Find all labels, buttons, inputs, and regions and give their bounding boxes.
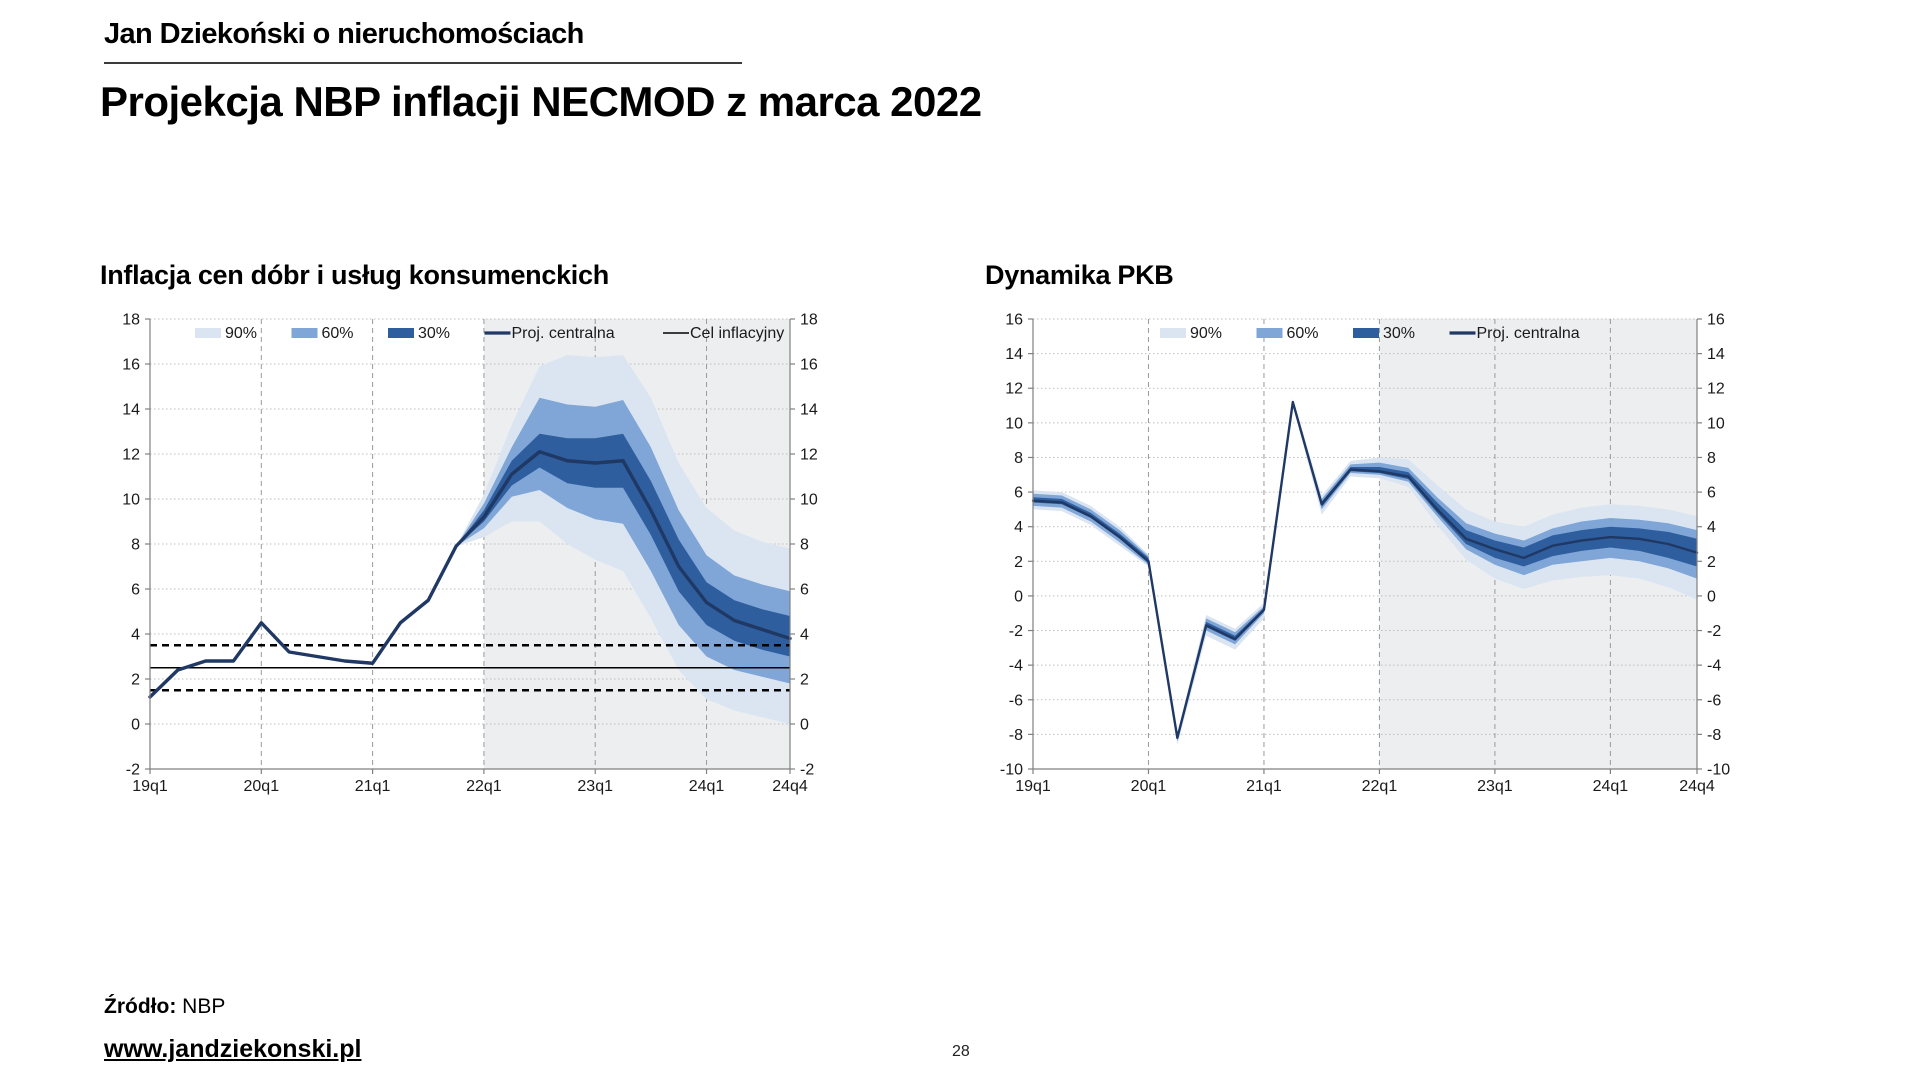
y-tick-label: 16 bbox=[1707, 312, 1725, 329]
y-tick-label: 14 bbox=[800, 402, 818, 419]
y-tick-label: 18 bbox=[122, 312, 140, 329]
legend-label: Proj. centralna bbox=[512, 325, 615, 342]
legend-swatch bbox=[195, 328, 221, 338]
brand-title: Jan Dziekoński o nieruchomościach bbox=[104, 18, 584, 51]
y-tick-label: -2 bbox=[1707, 623, 1721, 640]
y-tick-label: 6 bbox=[1707, 485, 1716, 502]
chart-legend: 90%60%30%Proj. centralna bbox=[1160, 325, 1580, 342]
y-tick-label: 14 bbox=[122, 402, 140, 419]
y-tick-label: 16 bbox=[1005, 312, 1023, 329]
y-tick-label: -10 bbox=[1707, 762, 1730, 779]
brand-divider bbox=[104, 62, 742, 64]
y-tick-label: -4 bbox=[1009, 658, 1023, 675]
y-tick-label: 8 bbox=[1707, 450, 1716, 467]
y-tick-label: 14 bbox=[1005, 346, 1023, 363]
x-tick-label: 23q1 bbox=[1477, 778, 1513, 795]
y-tick-label: -10 bbox=[1000, 762, 1023, 779]
y-tick-label: 12 bbox=[800, 447, 818, 464]
website-link[interactable]: www.jandziekonski.pl bbox=[104, 1035, 361, 1064]
y-tick-label: 0 bbox=[1707, 588, 1716, 605]
x-tick-label: 22q1 bbox=[466, 778, 502, 795]
y-tick-label: 4 bbox=[1707, 519, 1716, 536]
inflation-fan-chart: -2-200224466881010121214141616181819q120… bbox=[100, 309, 840, 809]
y-tick-label: 6 bbox=[1014, 485, 1023, 502]
y-tick-label: 4 bbox=[1014, 519, 1023, 536]
x-tick-label: 24q4 bbox=[772, 778, 808, 795]
y-tick-label: 10 bbox=[800, 492, 818, 509]
source-line: Źródło: NBP bbox=[104, 995, 225, 1019]
legend-label: 90% bbox=[225, 325, 257, 342]
legend-swatch bbox=[1353, 328, 1379, 338]
chart-gdp-heading: Dynamika PKB bbox=[985, 260, 1865, 291]
y-tick-label: 10 bbox=[122, 492, 140, 509]
y-tick-label: 4 bbox=[131, 627, 140, 644]
y-tick-label: 18 bbox=[800, 312, 818, 329]
y-tick-label: 8 bbox=[800, 537, 809, 554]
legend-swatch bbox=[388, 328, 414, 338]
y-tick-label: 10 bbox=[1005, 415, 1023, 432]
y-tick-label: 12 bbox=[1005, 381, 1023, 398]
x-tick-label: 21q1 bbox=[355, 778, 391, 795]
y-tick-label: 14 bbox=[1707, 346, 1725, 363]
y-tick-label: 2 bbox=[1707, 554, 1716, 571]
y-tick-label: 0 bbox=[131, 717, 140, 734]
x-tick-label: 20q1 bbox=[1131, 778, 1167, 795]
y-tick-label: 12 bbox=[122, 447, 140, 464]
x-tick-label: 19q1 bbox=[132, 778, 168, 795]
y-tick-label: -2 bbox=[800, 762, 814, 779]
y-tick-label: 8 bbox=[131, 537, 140, 554]
legend-swatch bbox=[1160, 328, 1186, 338]
y-tick-label: -8 bbox=[1009, 727, 1023, 744]
y-tick-label: 2 bbox=[131, 672, 140, 689]
x-tick-label: 20q1 bbox=[244, 778, 280, 795]
y-tick-label: -4 bbox=[1707, 658, 1721, 675]
legend-swatch bbox=[292, 328, 318, 338]
chart-inflation: Inflacja cen dóbr i usług konsumenckich … bbox=[100, 260, 960, 809]
source-label: Źródło: bbox=[104, 995, 176, 1018]
y-tick-label: 16 bbox=[800, 357, 818, 374]
chart-inflation-heading: Inflacja cen dóbr i usług konsumenckich bbox=[100, 260, 960, 291]
page-number: 28 bbox=[952, 1043, 970, 1061]
y-tick-label: 2 bbox=[1014, 554, 1023, 571]
x-tick-label: 23q1 bbox=[577, 778, 613, 795]
y-tick-label: -2 bbox=[126, 762, 140, 779]
legend-swatch bbox=[1257, 328, 1283, 338]
y-tick-label: 10 bbox=[1707, 415, 1725, 432]
y-tick-label: 2 bbox=[800, 672, 809, 689]
y-tick-label: 6 bbox=[131, 582, 140, 599]
y-tick-label: -2 bbox=[1009, 623, 1023, 640]
legend-label: 30% bbox=[1383, 325, 1415, 342]
y-tick-label: 16 bbox=[122, 357, 140, 374]
x-tick-label: 24q4 bbox=[1679, 778, 1715, 795]
y-tick-label: 6 bbox=[800, 582, 809, 599]
y-tick-label: 4 bbox=[800, 627, 809, 644]
gdp-fan-chart: -10-10-8-8-6-6-4-4-2-2002244668810101212… bbox=[985, 309, 1745, 809]
legend-label: 60% bbox=[322, 325, 354, 342]
chart-inflation-canvas: -2-200224466881010121214141616181819q120… bbox=[100, 309, 960, 809]
x-tick-label: 19q1 bbox=[1015, 778, 1051, 795]
y-tick-label: -6 bbox=[1707, 692, 1721, 709]
y-tick-label: 0 bbox=[800, 717, 809, 734]
y-tick-label: 0 bbox=[1014, 588, 1023, 605]
x-tick-label: 22q1 bbox=[1362, 778, 1398, 795]
y-tick-label: 8 bbox=[1014, 450, 1023, 467]
chart-gdp: Dynamika PKB -10-10-8-8-6-6-4-4-2-200224… bbox=[985, 260, 1865, 809]
page-title: Projekcja NBP inflacji NECMOD z marca 20… bbox=[100, 78, 982, 126]
x-tick-label: 24q1 bbox=[1593, 778, 1629, 795]
y-tick-label: -8 bbox=[1707, 727, 1721, 744]
y-tick-label: 12 bbox=[1707, 381, 1725, 398]
x-tick-label: 21q1 bbox=[1246, 778, 1282, 795]
legend-label: Cel inflacyjny bbox=[690, 325, 784, 342]
legend-label: Proj. centralna bbox=[1477, 325, 1580, 342]
chart-gdp-canvas: -10-10-8-8-6-6-4-4-2-2002244668810101212… bbox=[985, 309, 1865, 809]
legend-label: 30% bbox=[418, 325, 450, 342]
legend-label: 60% bbox=[1287, 325, 1319, 342]
legend-label: 90% bbox=[1190, 325, 1222, 342]
source-value: NBP bbox=[182, 995, 225, 1018]
x-tick-label: 24q1 bbox=[689, 778, 725, 795]
y-tick-label: -6 bbox=[1009, 692, 1023, 709]
